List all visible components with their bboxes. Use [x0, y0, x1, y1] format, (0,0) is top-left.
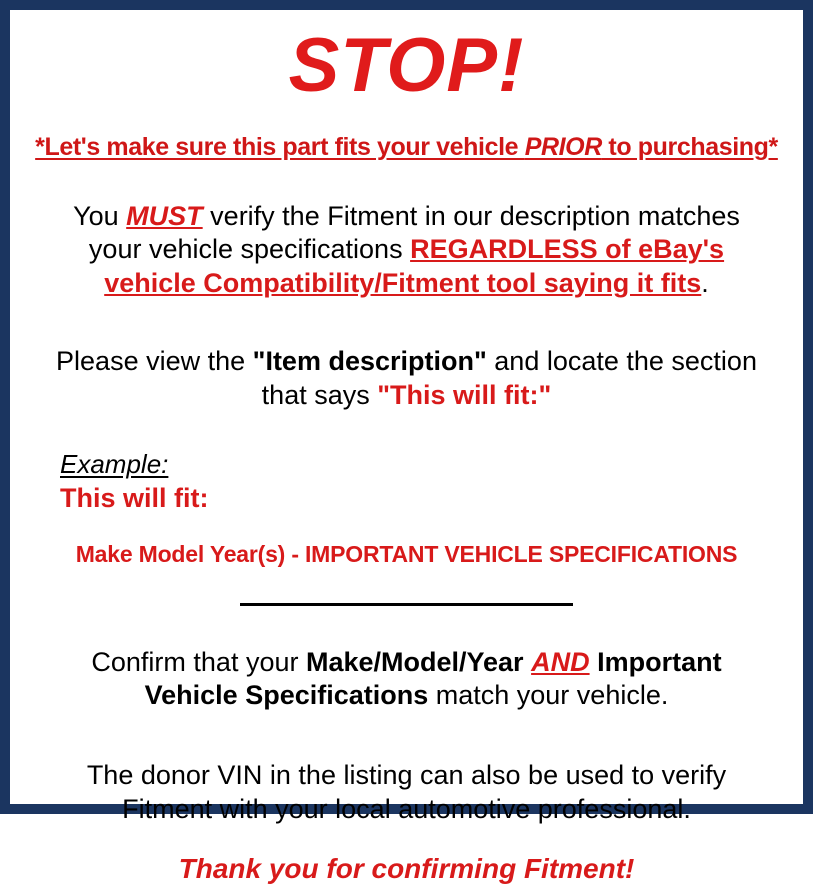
- fitment-subtitle: *Let's make sure this part fits your veh…: [18, 134, 795, 162]
- example-fit-heading: This will fit:: [60, 482, 795, 514]
- subtitle-text-after: to purchasing*: [602, 133, 778, 161]
- notice-content: STOP! *Let's make sure this part fits yo…: [10, 28, 803, 822]
- example-spec-line: Make Model Year(s) - IMPORTANT VEHICLE S…: [18, 541, 795, 568]
- confirm-emphasis-make-model-year: Make/Model/Year: [306, 647, 524, 677]
- confirm-seg-5: [590, 647, 598, 677]
- verify-seg-1: You: [73, 201, 126, 231]
- paragraph-verify-fitment: You MUST verify the Fitment in our descr…: [18, 200, 795, 301]
- confirm-seg-3: [524, 647, 532, 677]
- paragraph-item-description: Please view the "Item description" and l…: [18, 345, 795, 413]
- confirm-seg-7: match your vehicle.: [428, 680, 668, 710]
- divider-wrap: [18, 596, 795, 614]
- closing-thank-you: Thank you for confirming Fitment!: [18, 853, 795, 885]
- paragraph-confirm-match: Confirm that your Make/Model/Year AND Im…: [18, 646, 795, 714]
- verify-emphasis-must: MUST: [126, 201, 203, 231]
- subtitle-text-before: *Let's make sure this part fits your veh…: [35, 133, 525, 161]
- stop-headline: STOP!: [18, 28, 795, 104]
- confirm-emphasis-and: AND: [531, 647, 590, 677]
- verify-seg-5: .: [701, 268, 709, 298]
- horizontal-rule: [240, 603, 573, 606]
- itemdesc-seg-1: Please view the: [56, 346, 253, 376]
- fitment-notice-card: STOP! *Let's make sure this part fits yo…: [0, 0, 813, 814]
- paragraph-donor-vin: The donor VIN in the listing can also be…: [18, 759, 795, 827]
- itemdesc-emphasis-item-description: "Item description": [253, 346, 487, 376]
- confirm-seg-1: Confirm that your: [91, 647, 306, 677]
- example-block: Example: This will fit:: [18, 450, 795, 514]
- subtitle-emphasis-prior: PRIOR: [525, 133, 602, 161]
- example-label: Example:: [60, 450, 795, 480]
- itemdesc-emphasis-this-will-fit: "This will fit:": [377, 380, 551, 410]
